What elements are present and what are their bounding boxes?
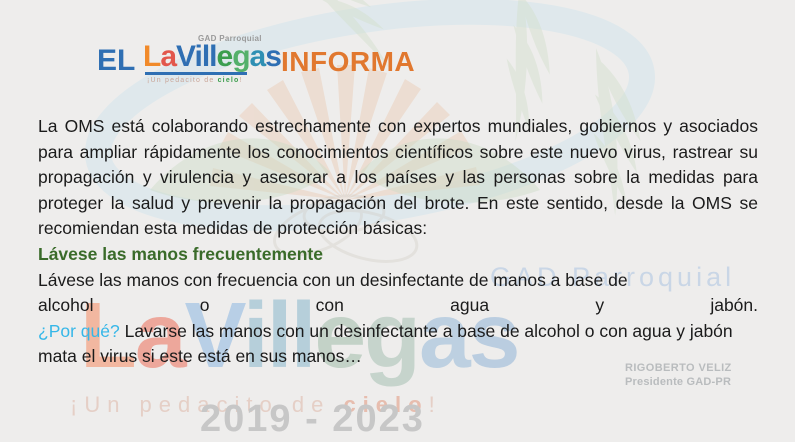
watermark-tagline-suffix: ! <box>429 392 442 417</box>
logo-letter-1: L <box>143 40 160 73</box>
logo-tagline-prefix: ¡Un pedacito de <box>147 77 218 84</box>
paragraph-desinfectante-line1: Lávese las manos con frecuencia con un d… <box>38 268 758 294</box>
header-informa-label: INFORMA <box>281 46 415 78</box>
watermark-years: 2019 - 2023 <box>200 398 425 441</box>
header-bar: EL GAD Parroquial LaVillegas ¡Un pedacit… <box>0 38 795 90</box>
logo-letter-5: e <box>217 40 233 73</box>
heading-lavese-manos: Lávese las manos frecuentemente <box>38 242 758 268</box>
paragraph-por-que-text: Lavarse las manos con un desinfectante a… <box>38 321 733 367</box>
header-el-label: EL <box>97 44 135 78</box>
signature-name: RIGOBERTO VELIZ <box>625 361 732 375</box>
logo-tagline: ¡Un pedacito de cielo! <box>147 77 243 84</box>
logo-letter-4: ill <box>194 40 216 73</box>
paragraph-desinfectante-line2: alcohol o con agua y jabón. <box>38 293 758 319</box>
paragraph-oms-intro: La OMS está colaborando estrechamente co… <box>38 114 758 242</box>
logo-underline-rule <box>145 72 247 75</box>
logo-letter-8: s <box>265 40 281 73</box>
logo-letter-3: V <box>176 40 194 73</box>
content-body: La OMS está colaborando estrechamente co… <box>38 114 758 370</box>
logo-tagline-suffix: ! <box>240 77 243 84</box>
logo-tagline-highlight: cielo <box>218 77 240 84</box>
logo-letter-2: a <box>160 40 176 73</box>
logo-wordmark: LaVillegas <box>143 40 281 74</box>
logo-letter-7: a <box>250 40 266 73</box>
signature-block: RIGOBERTO VELIZ Presidente GAD-PR <box>625 361 732 389</box>
signature-role: Presidente GAD-PR <box>625 375 732 389</box>
lavillegas-logo: GAD Parroquial LaVillegas ¡Un pedacito d… <box>143 34 275 90</box>
label-por-que: ¿Por qué? <box>38 321 120 341</box>
logo-letter-6: g <box>232 40 249 73</box>
slide-canvas: GAD Parroquial LaVillegas ¡Un pedacito d… <box>0 0 795 442</box>
